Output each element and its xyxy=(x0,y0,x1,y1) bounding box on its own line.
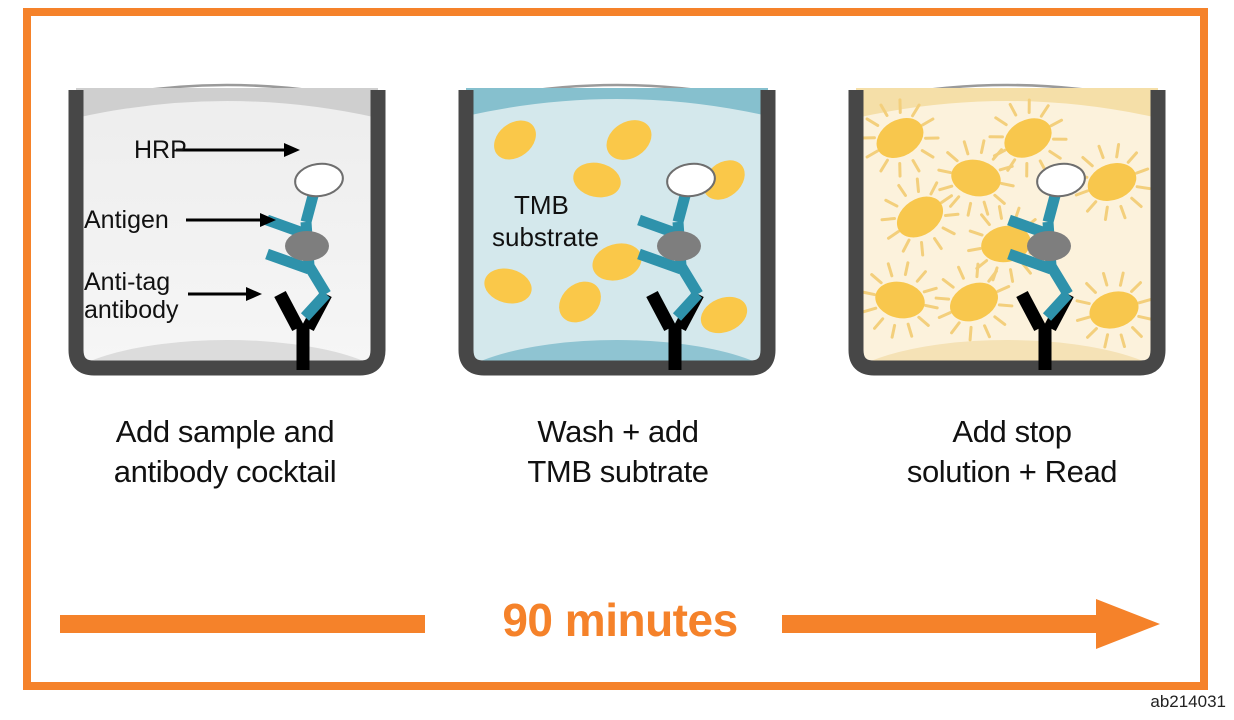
timeline-arrow-shaft-left xyxy=(60,615,425,633)
caption-step-2: Wash + add TMB subtrate xyxy=(428,412,808,491)
panel-step-3 xyxy=(842,62,1172,382)
antigen-icon-3 xyxy=(1027,231,1071,261)
well-illustration-2: TMB substrate xyxy=(452,62,782,382)
label-hrp: HRP xyxy=(134,136,187,164)
timeline-arrow: 90 minutes xyxy=(60,575,1180,665)
panel-step-2: TMB substrate xyxy=(452,62,782,382)
timeline-arrow-head xyxy=(1096,599,1160,649)
caption-step-1: Add sample and antibody cocktail xyxy=(35,412,415,491)
timeline-arrow-graphic xyxy=(60,575,1180,665)
label-tmb-substrate-line2: substrate xyxy=(492,222,599,252)
well-illustration-1: HRP Antigen Anti-tag antibody xyxy=(62,62,392,382)
antigen-icon-2 xyxy=(657,231,701,261)
panel-step-1: HRP Antigen Anti-tag antibody xyxy=(62,62,392,382)
antigen-icon-1 xyxy=(285,231,329,261)
label-anti-tag-antibody-line2: antibody xyxy=(84,296,179,324)
caption-step-3: Add stop solution + Read xyxy=(822,412,1202,491)
catalog-code: ab214031 xyxy=(1150,692,1226,712)
timeline-arrow-shaft-right xyxy=(782,615,1102,633)
label-antigen: Antigen xyxy=(84,206,169,234)
elisa-workflow-figure: HRP Antigen Anti-tag antibody xyxy=(0,0,1234,720)
well-illustration-3 xyxy=(842,62,1172,382)
label-anti-tag-antibody-line1: Anti-tag xyxy=(84,268,170,296)
label-tmb-substrate-line1: TMB xyxy=(514,190,569,220)
